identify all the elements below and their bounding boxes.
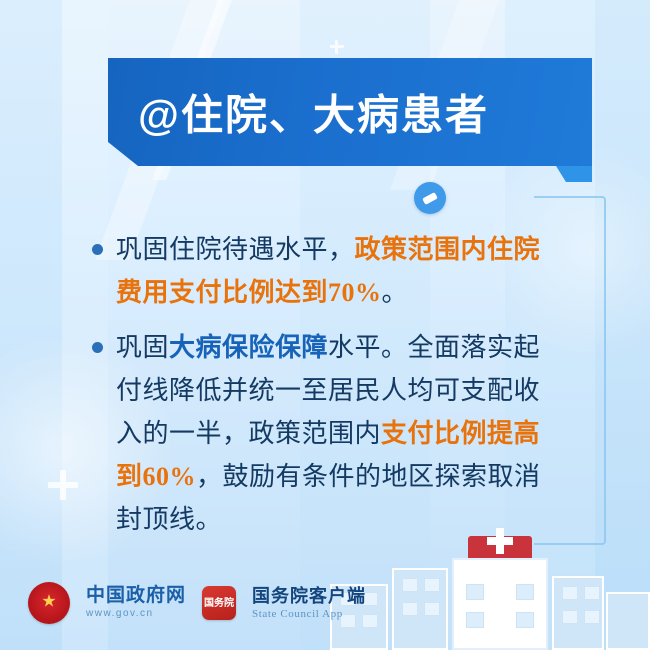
state-council-app-icon: 国务院 — [202, 586, 236, 620]
text-segment: 巩固住院待遇水平， — [116, 235, 355, 264]
check-badge-icon — [414, 182, 446, 214]
list-item-text: 巩固住院待遇水平，政策范围内住院费用支付比例达到70%。 — [116, 228, 562, 314]
cross-icon — [487, 537, 513, 545]
gov-site-label: 中国政府网 www.gov.cn — [86, 585, 186, 621]
list-item: 巩固住院待遇水平，政策范围内住院费用支付比例达到70%。 — [92, 228, 562, 314]
window — [402, 602, 418, 616]
bullet-icon — [92, 244, 103, 255]
national-emblem-icon: ★ — [28, 582, 70, 624]
title-banner: @住院、大病患者 — [108, 58, 592, 166]
window — [466, 584, 484, 600]
text-segment: 巩固 — [116, 333, 169, 362]
content-list: 巩固住院待遇水平，政策范围内住院费用支付比例达到70%。 巩固大病保险保障水平。… — [92, 228, 562, 553]
window — [516, 612, 534, 628]
window — [424, 602, 440, 616]
gov-site-name-en: www.gov.cn — [86, 607, 186, 621]
list-item-text: 巩固大病保险保障水平。全面落实起付线降低并统一至居民人均可支配收入的一半，政策范… — [116, 326, 562, 541]
list-item: 巩固大病保险保障水平。全面落实起付线降低并统一至居民人均可支配收入的一半，政策范… — [92, 326, 562, 541]
poster-canvas: @住院、大病患者 巩固住院待遇水平，政策范围内住院费用支付比例达到70%。 巩固… — [0, 0, 650, 650]
window — [584, 610, 600, 624]
window — [584, 586, 600, 600]
plus-icon-large — [48, 470, 78, 500]
window — [402, 578, 418, 592]
window — [562, 586, 578, 600]
footer-logos: ★ 中国政府网 www.gov.cn 国务院 国务院客户端 State Coun… — [28, 582, 366, 624]
app-name-en: State Council App — [252, 607, 366, 621]
plus-icon-small — [330, 40, 344, 54]
building — [606, 592, 650, 650]
gov-site-name-cn: 中国政府网 — [86, 585, 186, 607]
star-glyph: ★ — [41, 593, 56, 610]
window — [466, 612, 484, 628]
bullet-icon — [92, 342, 103, 353]
text-segment-highlight: 大病保险保障 — [169, 333, 328, 362]
state-council-app-label: 国务院客户端 State Council App — [252, 586, 366, 621]
window — [516, 584, 534, 600]
app-name-cn: 国务院客户端 — [252, 586, 366, 607]
window — [424, 578, 440, 592]
hospital-building — [452, 558, 548, 650]
text-segment: 。 — [382, 278, 409, 307]
window — [562, 610, 578, 624]
page-title: @住院、大病患者 — [138, 82, 489, 143]
